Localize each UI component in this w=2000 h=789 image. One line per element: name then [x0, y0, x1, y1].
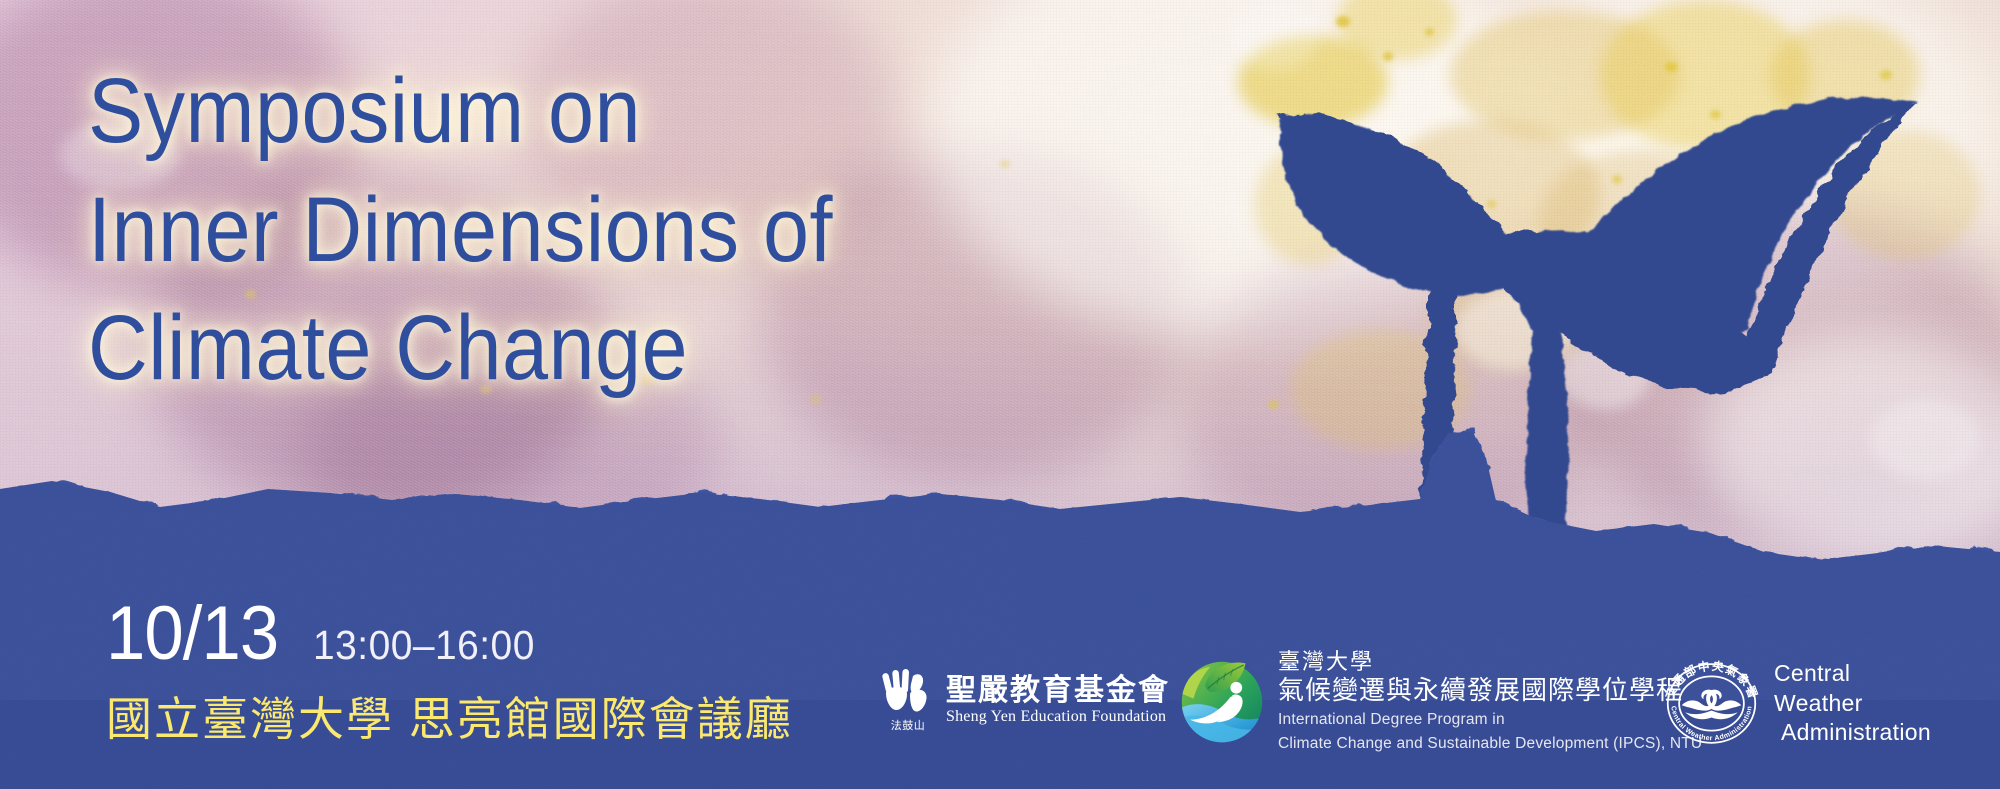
logo-sheng-yen-education-foundation: 法鼓山 聖嚴教育基金會 Sheng Yen Education Foundati… [880, 669, 1170, 731]
event-poster: Symposium on Inner Dimensions of Climate… [0, 0, 2000, 789]
sponsor-logos: 法鼓山 聖嚴教育基金會 Sheng Yen Education Foundati… [880, 645, 1990, 775]
event-date: 10/13 [106, 600, 278, 668]
ipcs-line-en-1: International Degree Program in [1278, 710, 1702, 731]
event-date-row: 10/13 13:00–16:00 [106, 600, 547, 669]
sheng-yen-hand-mark-icon: 法鼓山 [880, 669, 936, 731]
ipcs-globe-leaf-figure-icon [1180, 660, 1264, 744]
sheng-yen-name-cn: 聖嚴教育基金會 [946, 674, 1170, 707]
ipcs-line-cn-2: 氣候變遷與永續發展國際學位學程 [1278, 675, 1702, 707]
ipcs-text-block: 臺灣大學 氣候變遷與永續發展國際學位學程 International Degre… [1278, 649, 1702, 755]
cwa-name-line-1: Central [1774, 659, 1931, 688]
ipcs-line-en-2: Climate Change and Sustainable Developme… [1278, 734, 1702, 755]
event-venue: 國立臺灣大學 思亮館國際會議廳 [106, 683, 793, 749]
title-line-1: Symposium on [88, 52, 898, 171]
sheng-yen-text-block: 聖嚴教育基金會 Sheng Yen Education Foundation [946, 674, 1170, 726]
cwa-name-line-3: Administration [1774, 718, 1931, 747]
title-line-3: Climate Change [88, 289, 898, 408]
cwa-name-line-2: Weather [1774, 689, 1931, 718]
event-time: 13:00–16:00 [313, 622, 535, 669]
logo-ntu-ipcs: 臺灣大學 氣候變遷與永續發展國際學位學程 International Degre… [1180, 649, 1702, 755]
hand-icon [880, 669, 936, 715]
sheng-yen-name-en: Sheng Yen Education Foundation [946, 707, 1170, 726]
sheng-yen-mark-subtitle: 法鼓山 [880, 717, 936, 733]
cwa-text-block: Central Weather Administration [1774, 659, 1931, 747]
title-line-2: Inner Dimensions of [88, 171, 898, 290]
poster-title: Symposium on Inner Dimensions of Climate… [88, 52, 988, 408]
cwa-circular-seal-icon: 交通部中央氣象署 Central Weather Administration [1659, 651, 1764, 756]
logo-central-weather-administration: 交通部中央氣象署 Central Weather Administration … [1659, 651, 1931, 756]
ipcs-line-cn-1: 臺灣大學 [1278, 649, 1702, 675]
